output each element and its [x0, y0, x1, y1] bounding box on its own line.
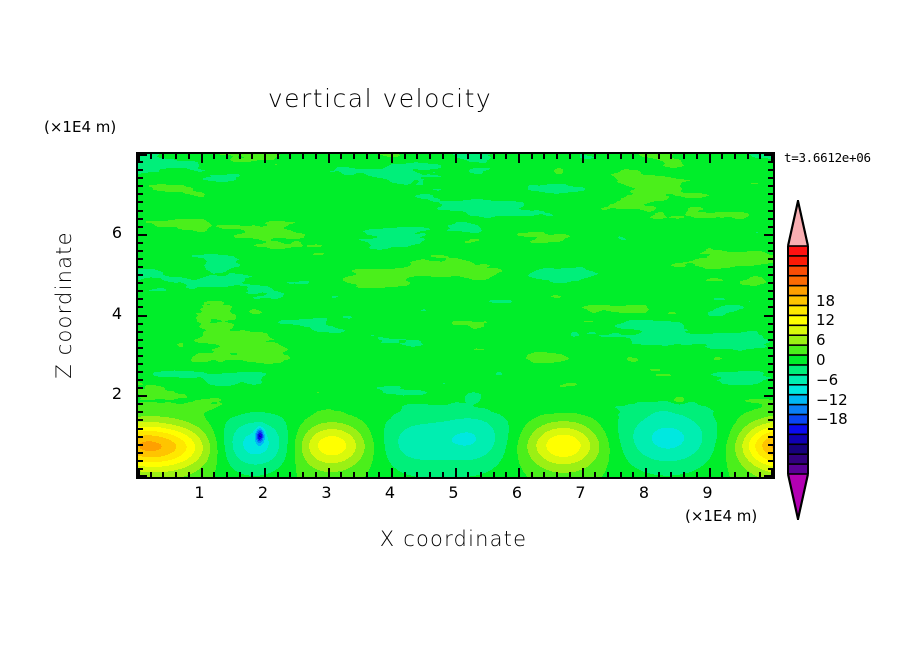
y-tick-label: 4	[92, 304, 122, 323]
vertical-velocity-field	[138, 154, 773, 477]
colorbar-tick-label: 6	[816, 331, 826, 349]
page-title: vertical velocity	[0, 84, 760, 113]
y-axis-title: Z coordinate	[52, 205, 76, 405]
colorbar-tick-label: 0	[816, 351, 826, 369]
colorbar-tick-label: −18	[816, 410, 848, 428]
colorbar-gradient	[786, 200, 810, 520]
plot-area	[136, 152, 775, 479]
x-axis-title: X coordinate	[136, 527, 771, 551]
colorbar	[786, 200, 810, 520]
contour-plot-figure: vertical velocity (×1E4 m) (×1E4 m) t=3.…	[0, 0, 904, 654]
x-tick-label: 3	[312, 483, 342, 502]
y-tick-label: 2	[92, 384, 122, 403]
x-tick-label: 6	[502, 483, 532, 502]
y-axis-unit-label: (×1E4 m)	[44, 118, 116, 136]
y-tick-label: 6	[92, 223, 122, 242]
colorbar-tick-label: 12	[816, 311, 835, 329]
colorbar-tick-label: −6	[816, 371, 838, 389]
x-tick-label: 5	[439, 483, 469, 502]
x-tick-label: 2	[248, 483, 278, 502]
colorbar-tick-label: 18	[816, 292, 835, 310]
x-axis-unit-label: (×1E4 m)	[685, 507, 757, 525]
x-tick-label: 7	[566, 483, 596, 502]
colorbar-tick-label: −12	[816, 391, 848, 409]
timestamp-annotation: t=3.6612e+06	[784, 150, 871, 165]
x-tick-label: 1	[185, 483, 215, 502]
x-tick-label: 4	[375, 483, 405, 502]
x-tick-label: 9	[693, 483, 723, 502]
x-tick-label: 8	[629, 483, 659, 502]
